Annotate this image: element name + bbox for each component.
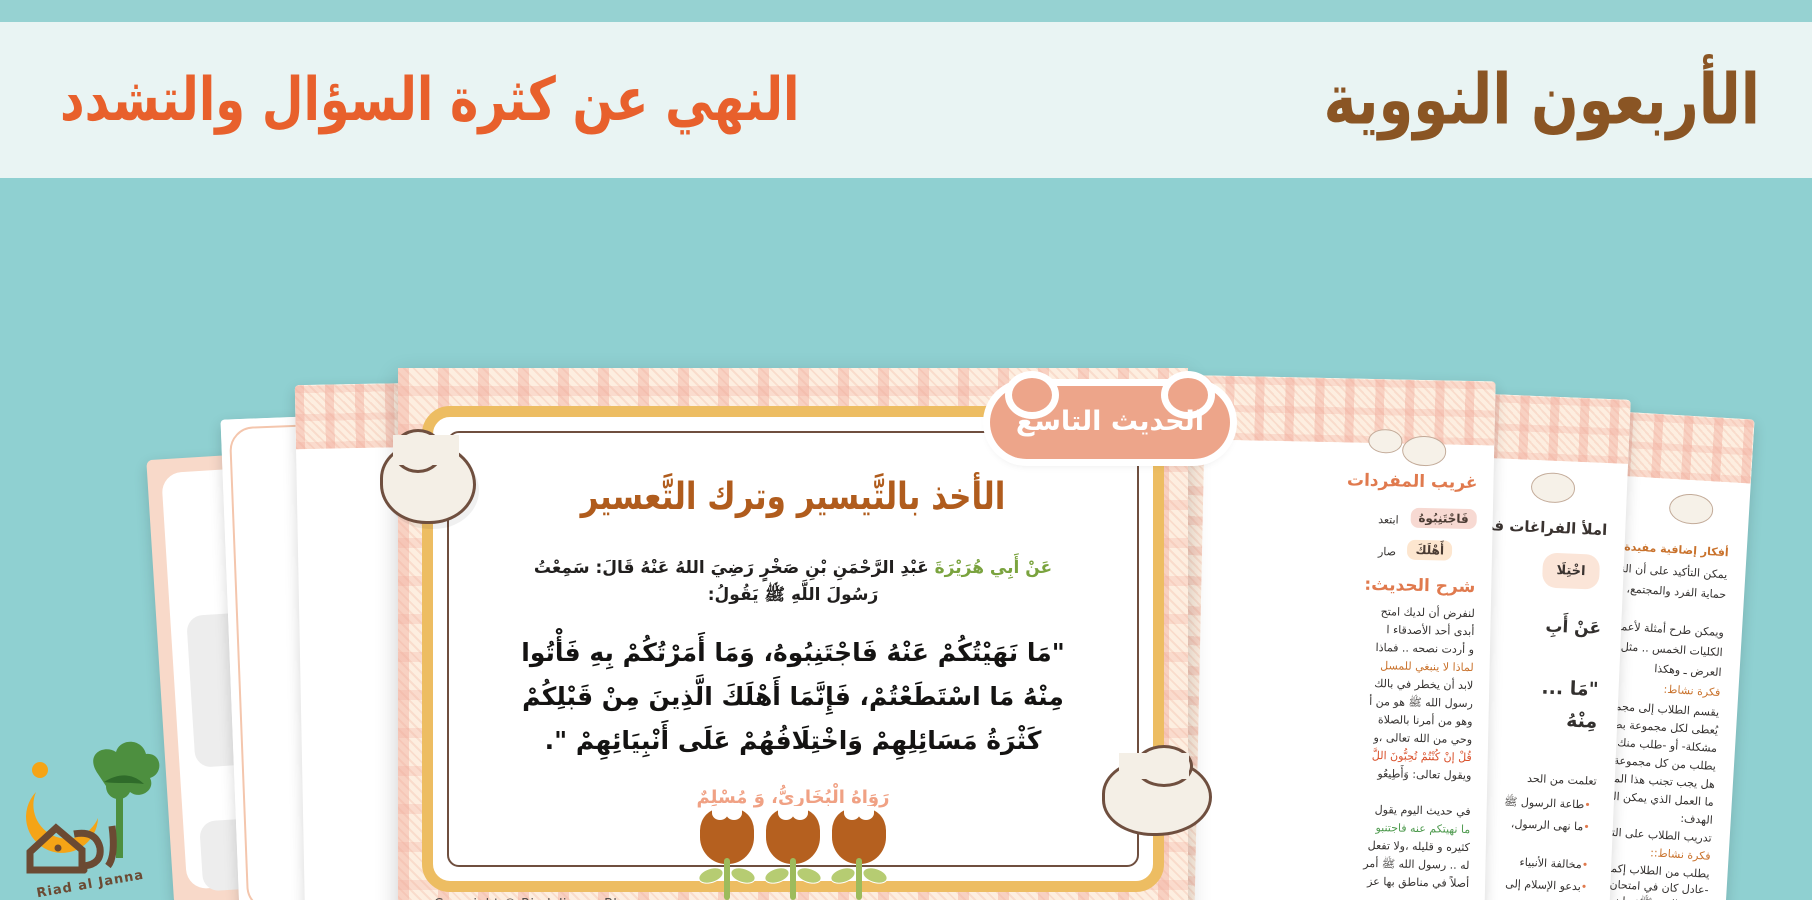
header-strip: الأربعون النووية النهي عن كثرة السؤال وا… (0, 22, 1812, 178)
wordmark-dot-icon (71, 867, 78, 874)
main-hadith-card[interactable]: الأخذ بالتَّيسير وترك التَّعسير عَنْ أَب… (398, 368, 1188, 900)
learned-bullet: بدعو الإسلام إلى (1505, 877, 1593, 894)
explain-line: و أردت نصحه .. فماذا (1375, 641, 1474, 656)
activity-header: فكرة نشاط: (1663, 683, 1720, 699)
tulip-leaf-right (860, 864, 889, 886)
explain-line: ويقول تعالى: وَأَطِيعُو (1377, 767, 1471, 782)
tulip-bulb (832, 808, 886, 864)
tulip-stem (790, 858, 796, 900)
tulip-leaf-left (696, 864, 725, 886)
explain-line: قُلْ إنْ كُنْتُمْ تُحِبُّونَ اللَّ (1372, 749, 1472, 764)
explain-line: له .. رسول الله ﷺ أمر (1363, 857, 1469, 875)
learned-header: تعلمت من الحد (1527, 772, 1597, 788)
explain-line: لابد أن يخطر في بالك (1374, 677, 1473, 692)
teacher-line: ويمكن طرح أمثلة لأعمال (1610, 619, 1725, 639)
tulip-stem (724, 858, 730, 900)
learned-bullet: طاعة الرسول ﷺ (1504, 795, 1596, 815)
cloud-decoration-icon (380, 442, 476, 524)
tulip-stem (856, 858, 862, 900)
explain-line: في حديث اليوم يقول (1375, 803, 1471, 818)
vocabulary-header: غريب المفردات (1347, 470, 1478, 493)
teacher-line: حماية الفرد والمجتمع، و (1617, 582, 1726, 601)
tulip-leaf-left (762, 864, 791, 886)
explanation-header: شرح الحديث: (1364, 575, 1475, 597)
activity-header: فكرة نشاط:: (1650, 846, 1711, 863)
lesson-title: النهي عن كثرة السؤال والتشدد (60, 65, 799, 135)
cloud-decoration-icon (1402, 436, 1447, 467)
hadith-title: الأخذ بالتَّيسير وترك التَّعسير (513, 475, 1073, 518)
body-fragment: مِنْهُ (1566, 710, 1598, 733)
card-content: الأخذ بالتَّيسير وترك التَّعسير عَنْ أَب… (449, 433, 1137, 808)
learned-bullet: ما نهى الرسول، (1511, 817, 1595, 834)
brown-inner-frame: الأخذ بالتَّيسير وترك التَّعسير عَنْ أَب… (447, 431, 1139, 867)
hadith-number-badge: الحديث التاسع (990, 386, 1230, 459)
tulip-bulb (700, 808, 754, 864)
cloud-decoration-icon (1102, 758, 1212, 836)
crescent-dot-icon (32, 762, 48, 778)
explain-line: كثيره و قليله ،ولا تفعل (1368, 839, 1470, 854)
explain-line: لنفرض أن لديك امتح (1381, 605, 1475, 620)
hadith-source: رَوَاهُ الْبُخَارِيُّ، وَ مُسْلِمٌ (513, 787, 1073, 808)
tulip-icon (696, 808, 758, 900)
tulip-icon (762, 808, 824, 900)
top-teal-band (0, 0, 1812, 22)
explain-line: رسول الله ﷺ هو من أ (1369, 695, 1473, 713)
explain-line: لماذا لا ينبغي للمسل (1380, 659, 1474, 674)
wordmark-stroke-icon (108, 826, 113, 866)
tulip-leaf-right (728, 864, 757, 886)
palm-trunk-icon (116, 792, 123, 858)
teacher-line: العرض ـ وهكذا (1654, 662, 1722, 679)
vocab-word: فَاجْتَنِبُوهُ (1410, 508, 1477, 529)
explain-line: وحي من الله تعالى ،و (1373, 731, 1472, 746)
explain-line: أصلاً في مناطق بها عز (1367, 875, 1469, 890)
narrator-name: عَنْ أَبِي هُرَيْرَةَ (935, 558, 1053, 578)
hadith-narrator: عَنْ أَبِي هُرَيْرَةَ عَبْدِ الرَّحْمَنِ… (513, 555, 1073, 609)
fill-blanks-header: املأ الفراغات في (1479, 516, 1608, 539)
vocab-meaning: ابتعد (1378, 513, 1399, 526)
poster-canvas: الأربعون النووية النهي عن كثرة السؤال وا… (0, 0, 1812, 900)
vocab-meaning: صار (1378, 545, 1396, 558)
body-fragment: "مَا ... (1541, 676, 1599, 700)
explain-line: أبدى أحد الأصدقاء ا (1386, 623, 1474, 638)
vocab-word: أَهْلَكَ (1407, 540, 1452, 561)
goal-header: الهدف: (1680, 812, 1713, 827)
explain-line: وهو من أمرنا بالصلاة (1378, 713, 1473, 728)
narrator-rest: عَبْدِ الرَّحْمَنِ بْنِ صَخْرٍ رَضِيَ ال… (534, 558, 935, 605)
activity-line: يطلب من كل مجموعة أن (1599, 753, 1717, 773)
riad-al-janna-logo[interactable] (12, 730, 182, 890)
cloud-decoration-icon (1368, 429, 1402, 454)
cloud-decoration-icon (1530, 472, 1575, 504)
activity-line: هل يجب تجنب هذا الموق (1600, 771, 1716, 791)
hadith-body-text: "مَا نَهَيْتُكُمْ عَنْهُ فَاجْتَنِبُوهُ،… (513, 631, 1073, 762)
activity-line: يقسم الطلاب إلى مجموع (1603, 699, 1719, 719)
activity-line: ما العمل الذي يمكن القيا (1601, 789, 1715, 809)
cloud-decoration-icon (1668, 493, 1714, 526)
learned-bullet: مخالفة الأنبياء (1519, 856, 1593, 872)
blank-chip[interactable]: اخْتِلَا (1542, 552, 1600, 589)
tulip-decoration-row (696, 808, 890, 900)
tulip-icon (828, 808, 890, 900)
activity-line: يُعطى لكل مجموعة بطاقا (1602, 717, 1719, 737)
teacher-line: يمكن التأكيد على أن النوا (1613, 562, 1728, 582)
series-title: الأربعون النووية (1323, 59, 1760, 140)
poster-body: ستطعتم حمود ؟ ة التالية الحسد الصبر بر ا… (0, 178, 1812, 900)
tulip-bulb (766, 808, 820, 864)
wordmark-dot-icon (55, 845, 62, 852)
explain-line: ما نهيتكم عنه فاجتنبو (1375, 821, 1470, 836)
palm-crown-icon (93, 742, 159, 799)
tulip-leaf-right (794, 864, 823, 886)
tulip-leaf-left (828, 864, 857, 886)
wordmark-dot-icon (81, 867, 88, 874)
narrator-fragment: عَنْ أَبِ (1545, 617, 1602, 639)
